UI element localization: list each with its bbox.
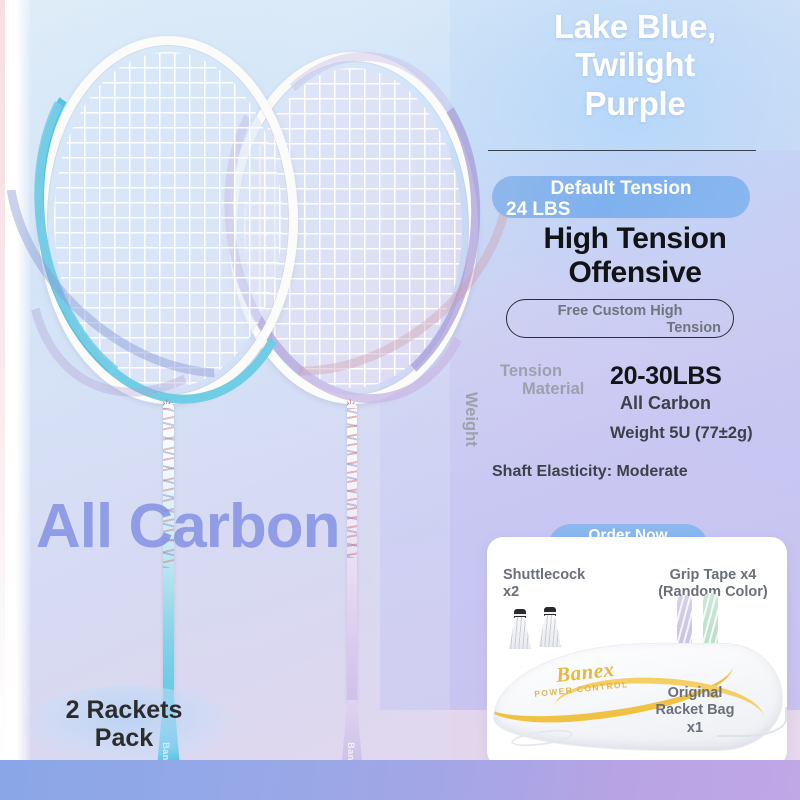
title-line-1: Lake Blue, (474, 8, 796, 46)
free-custom-tension-box: Free Custom High Tension (506, 299, 734, 338)
pack-line-1: 2 Rackets (24, 696, 224, 724)
gift-card: Shuttlecock x2 Grip Tape x4 (Random Colo… (487, 537, 787, 767)
title-line-2: Twilight (474, 46, 796, 84)
info-column: Lake Blue, Twilight Purple Default Tensi… (468, 0, 800, 762)
spec-label-weight: Weight (461, 392, 480, 447)
custom-box-line-1: Free Custom High (519, 303, 721, 320)
racket-blue: ›|‹ Banex (38, 36, 298, 800)
shuttlecock-line-1: Shuttlecock (503, 567, 585, 584)
bag-line-3: x1 (615, 720, 775, 737)
default-tension-label: Default Tension (506, 179, 736, 200)
shuttlecock-cork (544, 607, 556, 616)
left-edge-pink-line (0, 0, 5, 762)
gift-label-shuttlecock: Shuttlecock x2 (503, 567, 585, 602)
spec-value-weight: Weight 5U (77±2g) (610, 424, 753, 443)
bag-line-2: Racket Bag (615, 702, 775, 719)
racket-blue-head (38, 36, 298, 404)
pack-line-2: Pack (24, 724, 224, 752)
spec-value-tension: 20-30LBS (610, 362, 722, 391)
shuttlecock-cork (514, 609, 526, 618)
spec-value-shaft-elasticity: Shaft Elasticity: Moderate (492, 463, 688, 481)
headline-line-1: High Tension (474, 222, 796, 256)
default-tension-value: 24 LBS (506, 200, 736, 221)
spec-value-material: All Carbon (620, 393, 711, 414)
default-tension-badge: Default Tension 24 LBS (492, 176, 750, 218)
product-title: Lake Blue, Twilight Purple (474, 8, 796, 123)
spec-label-material: Material (522, 380, 584, 399)
headline-line-2: Offensive (474, 256, 796, 290)
title-line-3: Purple (474, 85, 796, 123)
rackets-pack-label: 2 Rackets Pack (24, 696, 224, 752)
gift-label-racket-bag: Original Racket Bag x1 (615, 685, 775, 737)
headline: High Tension Offensive (474, 222, 796, 290)
title-divider (488, 150, 756, 151)
shuttlecock-line-2: x2 (503, 584, 585, 601)
bag-line-1: Original (615, 685, 775, 702)
custom-box-line-2: Tension (519, 320, 721, 337)
bottom-color-band (0, 760, 800, 800)
spec-label-tension: Tension (500, 362, 562, 381)
grip-line-1: Grip Tape x4 (639, 567, 787, 584)
all-carbon-overlay-text: All Carbon (36, 496, 456, 558)
product-image-canvas: ›|‹ Banex ›|‹ Banex All Carbon 2 Rackets… (0, 0, 800, 800)
shuttlecock-icon-2 (539, 607, 561, 647)
